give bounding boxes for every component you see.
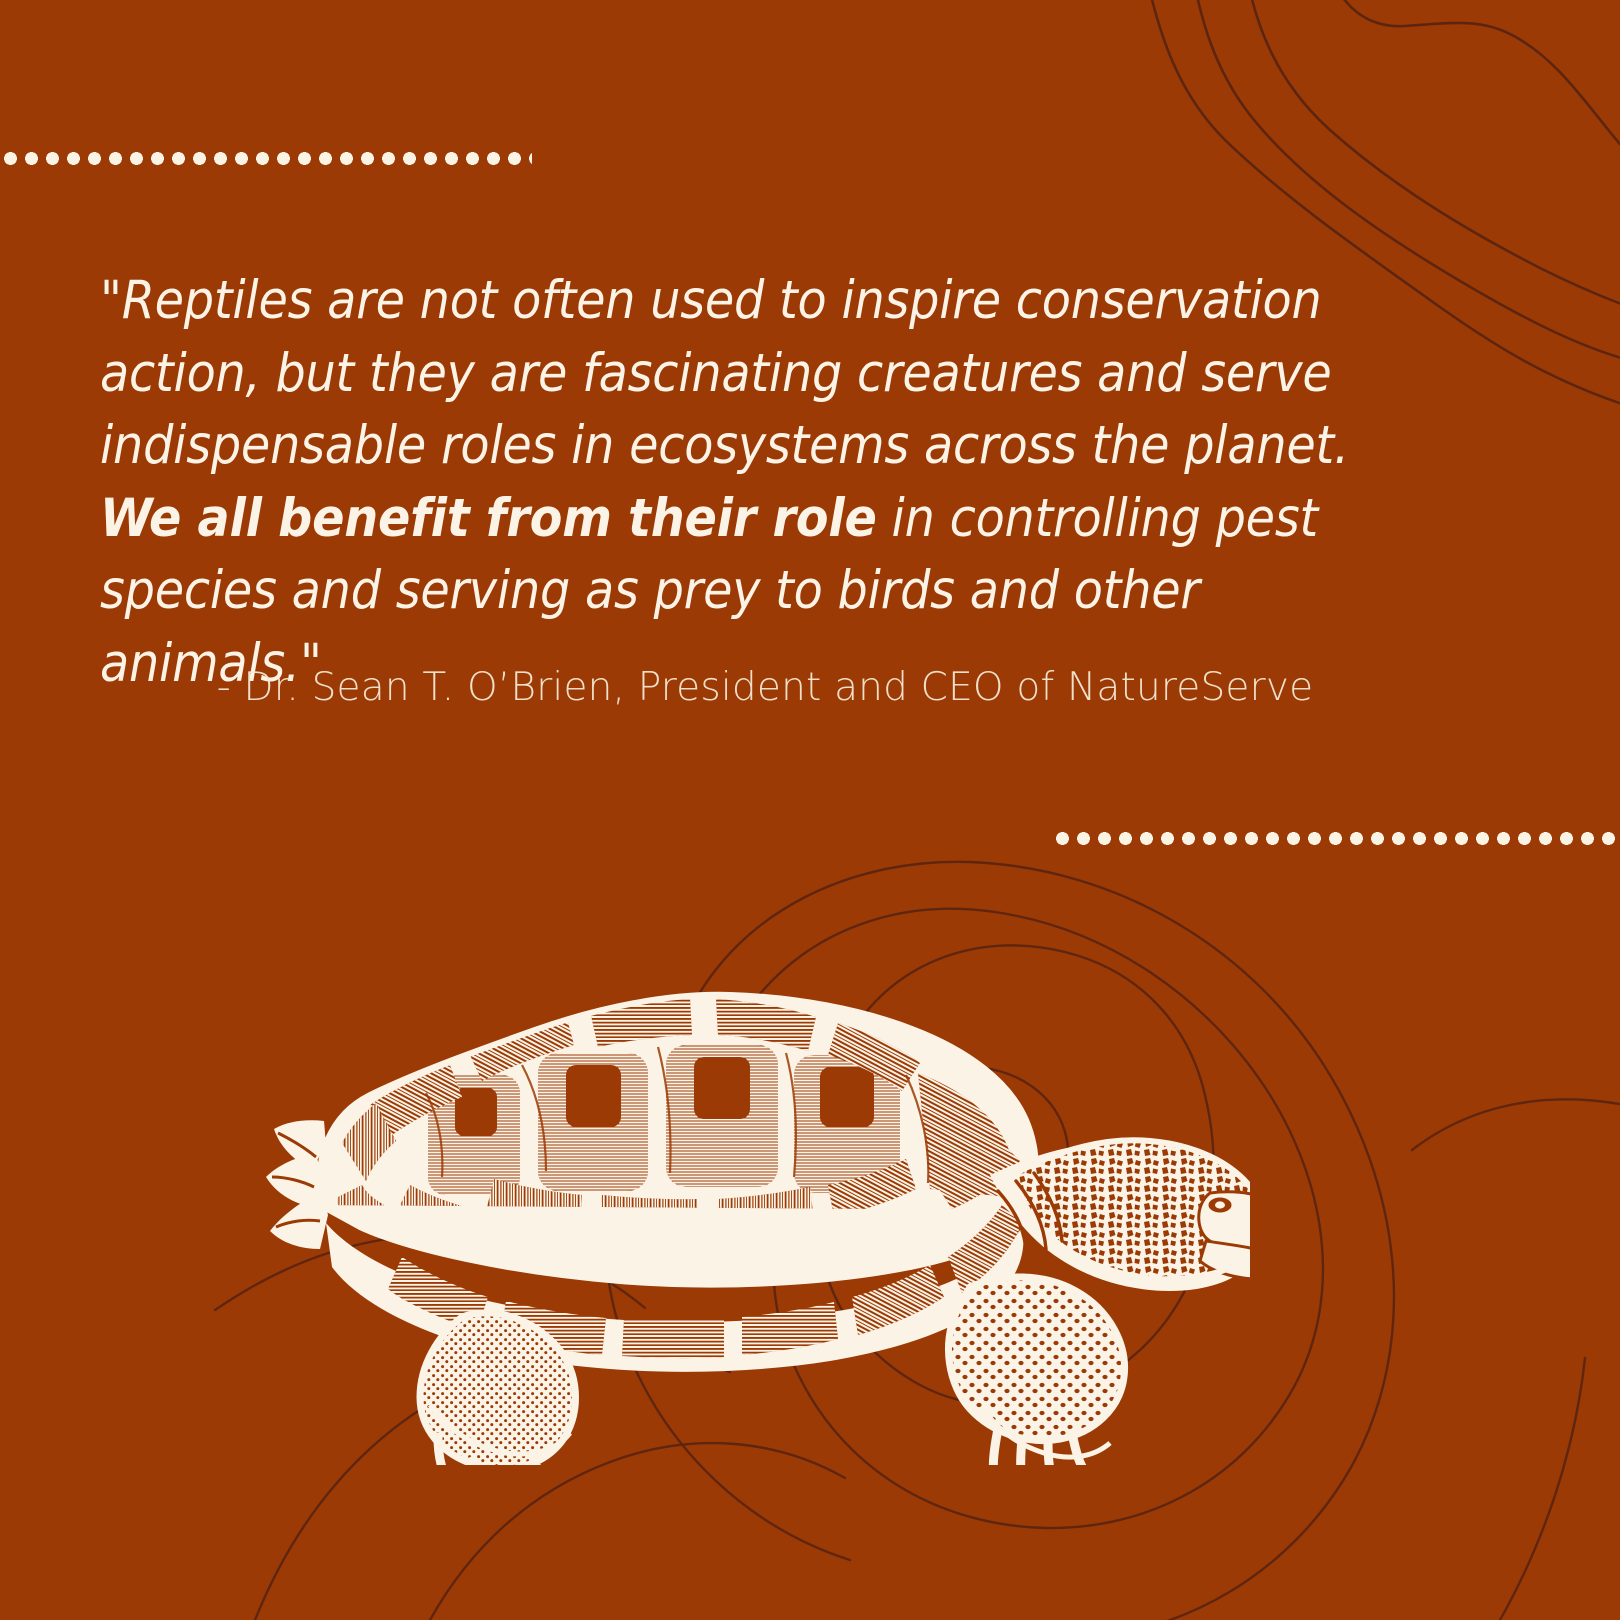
quote-block: "Reptiles are not often used to inspire … [100, 265, 1430, 701]
social-quote-card: "Reptiles are not often used to inspire … [0, 0, 1620, 1620]
quote-attribution: - Dr. Sean T. O’Brien, President and CEO… [100, 663, 1430, 714]
quote-text: "Reptiles are not often used to inspire … [100, 265, 1430, 701]
dotted-rule-top [0, 152, 532, 165]
quote-emphasis: We all benefit from their role [100, 488, 877, 549]
quote-part-1: "Reptiles are not often used to inspire … [100, 270, 1349, 476]
dotted-rule-middle [1052, 832, 1620, 845]
tortoise-engraving-illustration [170, 905, 1250, 1465]
